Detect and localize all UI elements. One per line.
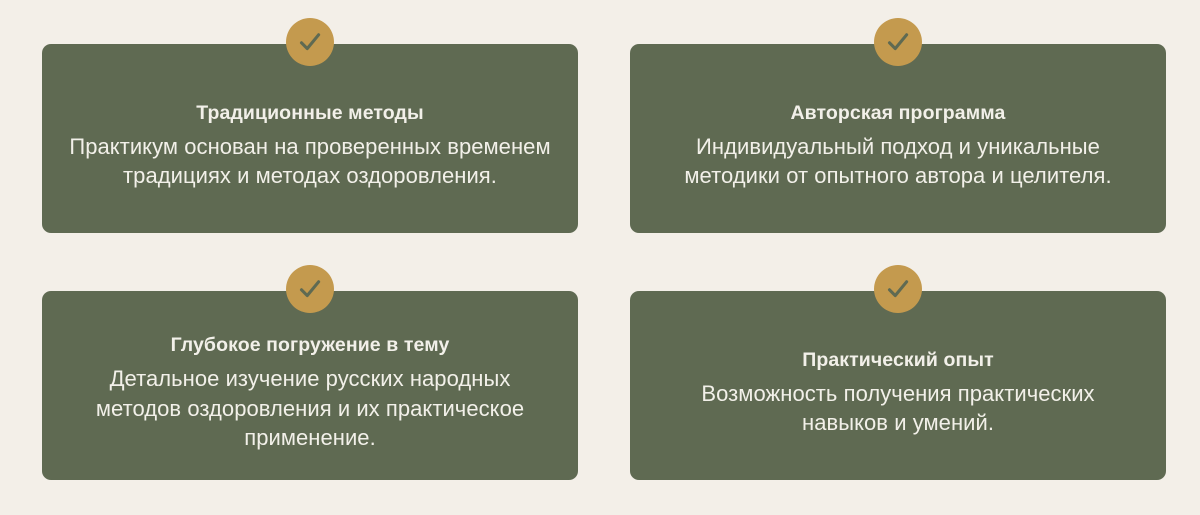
- benefits-card-grid: Традиционные методы Практикум основан на…: [42, 44, 1165, 480]
- check-icon: [295, 27, 325, 57]
- benefit-card-3[interactable]: Глубокое погружение в тему Детальное изу…: [42, 291, 578, 480]
- benefit-card-4[interactable]: Практический опыт Возможность получения …: [630, 291, 1166, 480]
- benefit-card-1[interactable]: Традиционные методы Практикум основан на…: [42, 44, 578, 233]
- benefit-card-body: Детальное изучение русских народных мето…: [68, 364, 552, 452]
- benefit-card-title: Глубокое погружение в тему: [171, 333, 450, 357]
- check-icon: [883, 27, 913, 57]
- benefit-card-2[interactable]: Авторская программа Индивидуальный подхо…: [630, 44, 1166, 233]
- check-icon: [883, 274, 913, 304]
- benefit-card-title: Традиционные методы: [196, 101, 424, 125]
- check-badge: [286, 18, 334, 66]
- benefit-card-body: Возможность получения практических навык…: [656, 379, 1140, 438]
- check-badge: [874, 18, 922, 66]
- check-badge: [874, 265, 922, 313]
- benefits-section: Традиционные методы Практикум основан на…: [0, 0, 1200, 515]
- check-badge: [286, 265, 334, 313]
- benefit-card-title: Практический опыт: [802, 348, 994, 372]
- check-icon: [295, 274, 325, 304]
- benefit-card-body: Индивидуальный подход и уникальные метод…: [656, 132, 1140, 191]
- benefit-card-body: Практикум основан на проверенных времене…: [68, 132, 552, 191]
- benefit-card-title: Авторская программа: [791, 101, 1006, 125]
